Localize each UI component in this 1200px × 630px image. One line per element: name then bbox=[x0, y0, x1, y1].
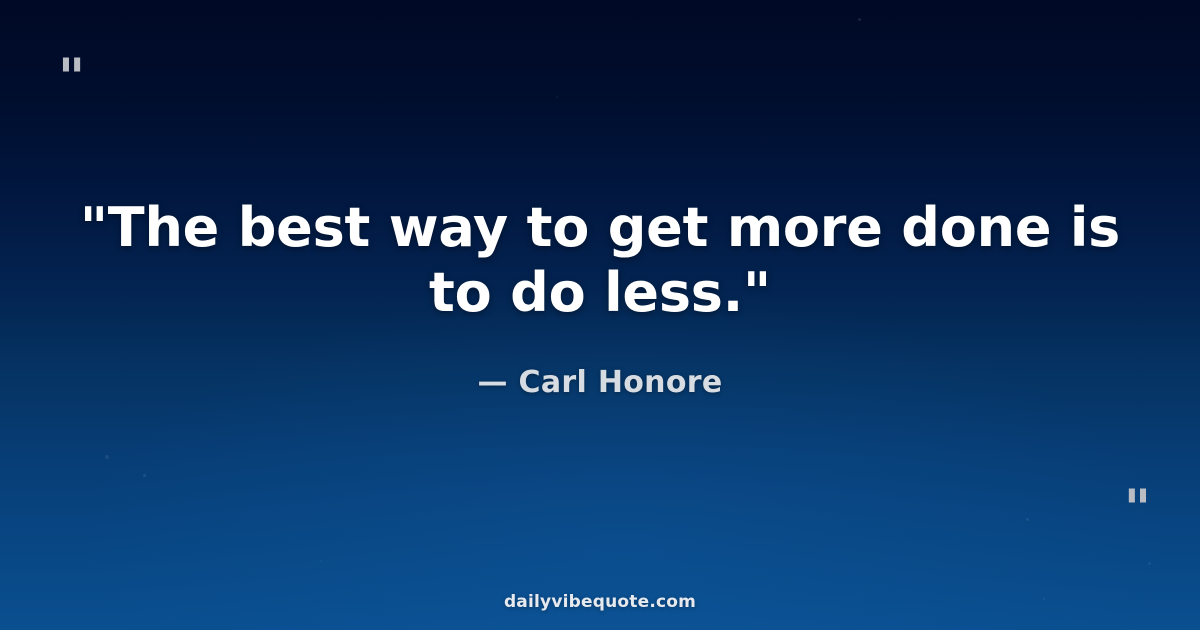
quote-content: "The best way to get more done is to do … bbox=[0, 0, 1200, 630]
quote-text: "The best way to get more done is to do … bbox=[48, 196, 1152, 326]
quote-author: — Carl Honore bbox=[478, 365, 723, 400]
quote-card: " " "The best way to get more done is to… bbox=[0, 0, 1200, 630]
site-watermark: dailyvibequote.com bbox=[0, 592, 1200, 612]
